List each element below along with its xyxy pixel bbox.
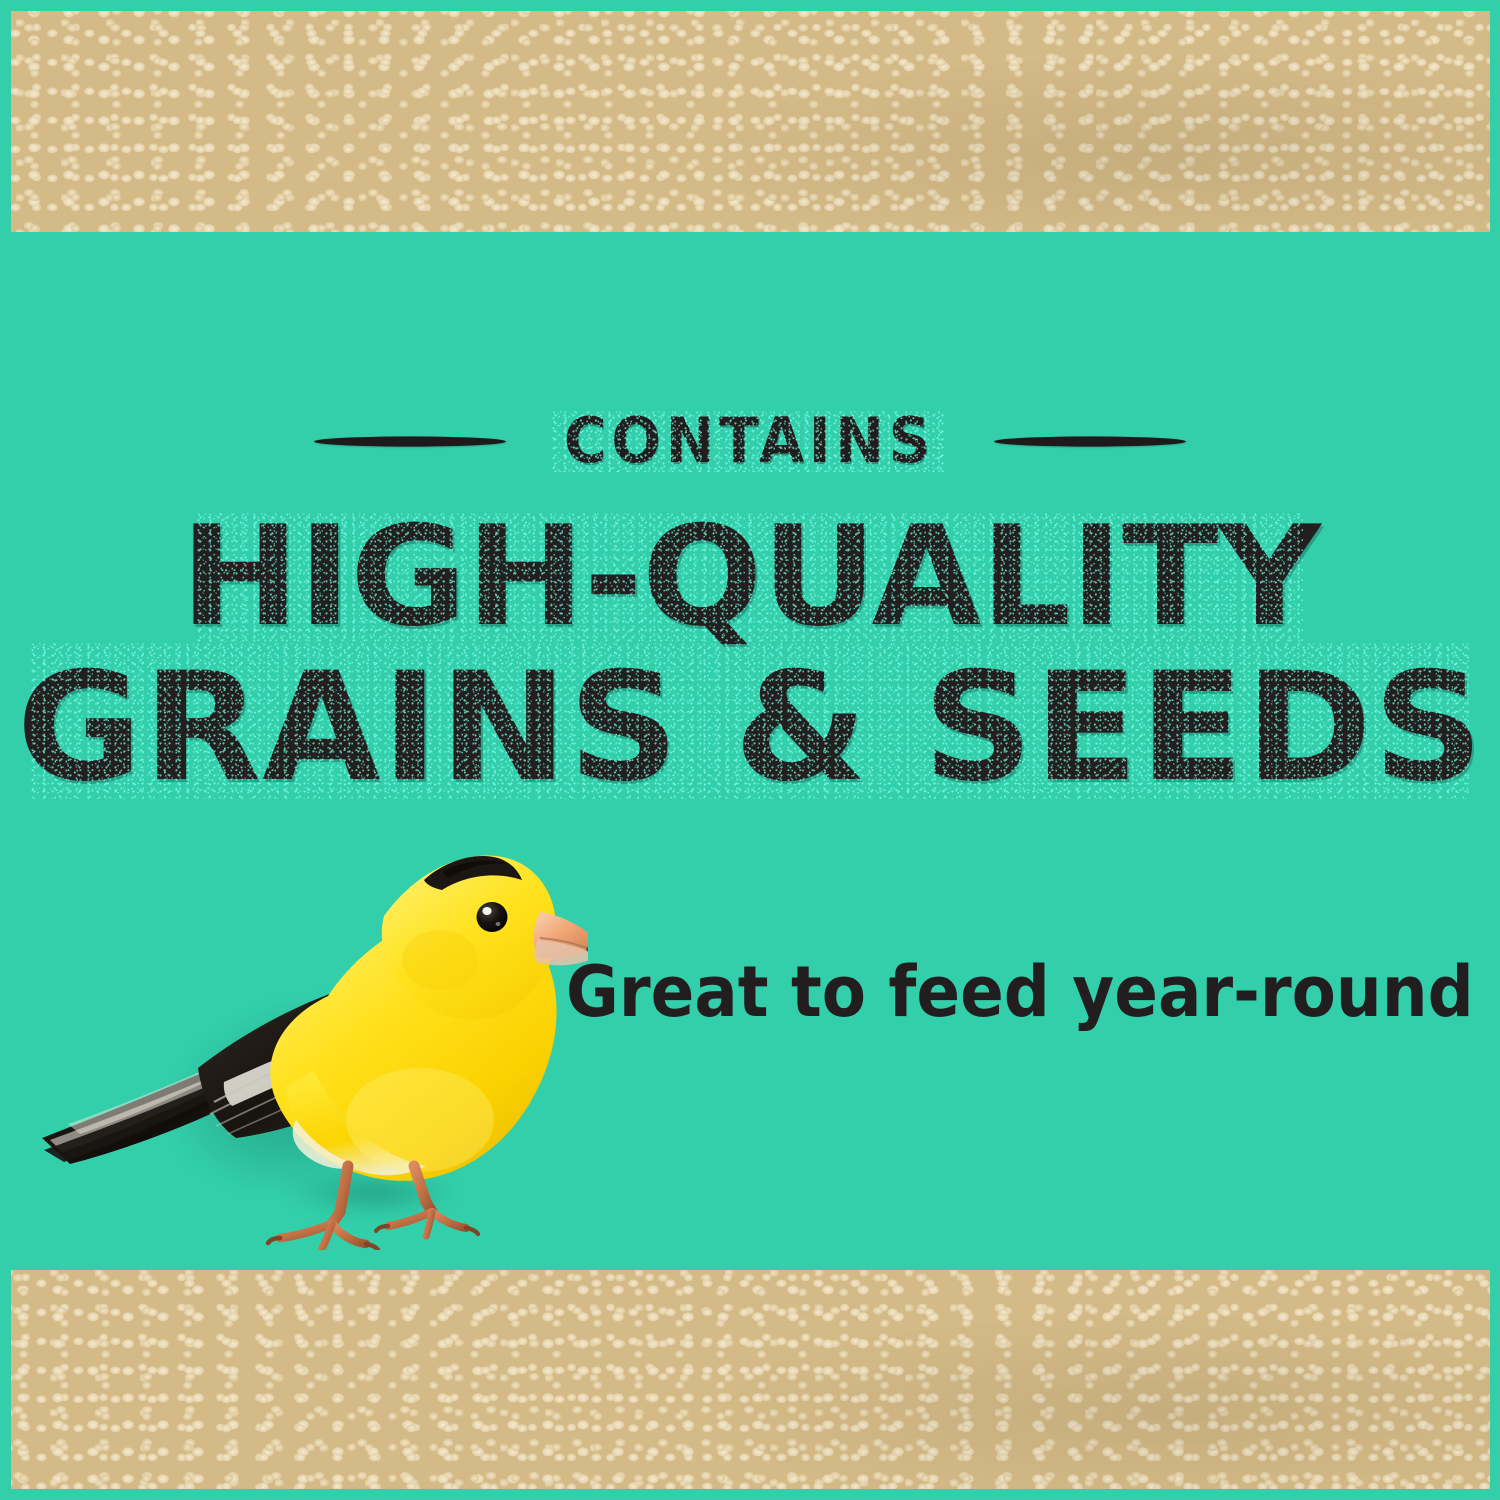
eyebrow-text: CONTAINS: [564, 410, 935, 472]
product-feature-panel: Close-up photo of mixed bird seed: white…: [0, 0, 1500, 1500]
dash-right-icon: [994, 436, 1186, 446]
goldfinch-illustration: [28, 820, 588, 1250]
seed-texture-band-bottom: Close-up photo of mixed bird seed: white…: [11, 1270, 1490, 1489]
headline-line-1-wrap: HIGH-QUALITY: [197, 512, 1303, 642]
bird-eye: [477, 902, 508, 932]
seed-texture-band-top: Close-up photo of mixed bird seed: white…: [11, 11, 1490, 232]
tagline-text: Great to feed year-round: [566, 956, 1474, 1030]
eyebrow-row: CONTAINS: [0, 398, 1500, 484]
bird-legs: [268, 1166, 478, 1250]
headline-line-2: GRAINS & SEEDS: [16, 658, 1484, 799]
headline-block: HIGH-QUALITY GRAINS & SEEDS: [0, 512, 1500, 799]
headline-line-2-wrap: GRAINS & SEEDS: [31, 642, 1470, 799]
bird-foot-rear: [376, 1212, 478, 1236]
eyebrow-text-wrap: CONTAINS: [552, 410, 947, 472]
seed-layer-shading: [11, 1270, 1490, 1489]
seed-layer-shading: [11, 11, 1490, 232]
goldfinch-figure: Bright yellow American Goldfinch with bl…: [28, 820, 588, 1250]
bird-foot-front: [268, 1224, 378, 1250]
headline-line-1: HIGH-QUALITY: [180, 512, 1319, 642]
dash-left-icon: [314, 436, 506, 446]
